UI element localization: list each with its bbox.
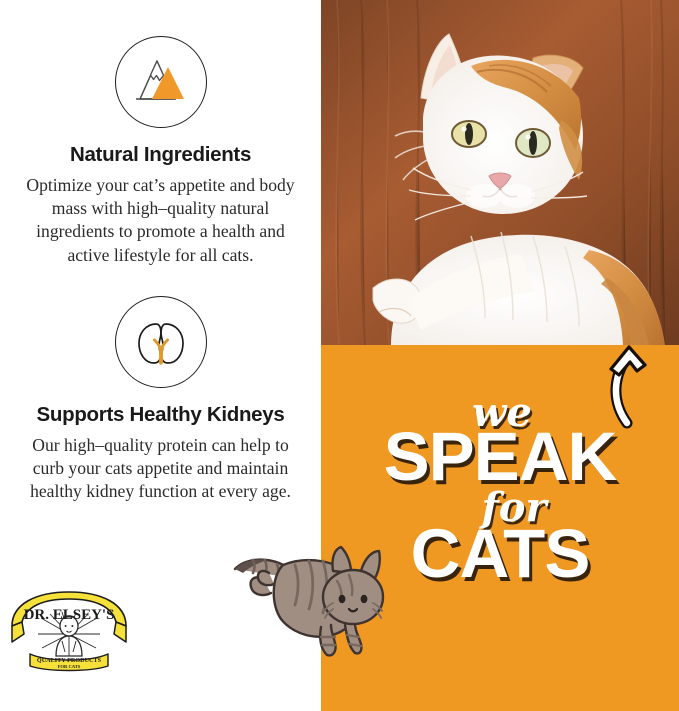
logo-tagline-text: QUALITY PRODUCTS xyxy=(37,657,102,664)
leaping-cat-illustration xyxy=(229,525,389,660)
feature-title: Supports Healthy Kidneys xyxy=(0,404,321,427)
mountain-icon xyxy=(115,36,207,128)
slogan-line-speak: SPEAK xyxy=(321,425,679,488)
kidneys-icon xyxy=(115,296,207,388)
cat-photo xyxy=(321,0,679,345)
feature-title: Natural Ingredients xyxy=(0,144,321,167)
logo-brand-text: DR. ELSEY'S xyxy=(24,607,115,623)
logo-subtagline-text: FOR CATS xyxy=(58,664,81,669)
feature-description: Optimize your cat’s appetite and body ma… xyxy=(16,174,306,268)
feature-supports-healthy-kidneys: Supports Healthy Kidneys Our high–qualit… xyxy=(0,296,321,504)
promo-infographic: Natural Ingredients Optimize your cat’s … xyxy=(0,0,679,711)
feature-description: Our high–quality protein can help to cur… xyxy=(16,434,306,504)
dr-elseys-logo: DR. ELSEY'S QUALITY PRODUCTS FOR CATS xyxy=(8,586,130,672)
feature-natural-ingredients: Natural Ingredients Optimize your cat’s … xyxy=(0,36,321,267)
slogan-panel: we SPEAK for CATS xyxy=(321,345,679,711)
